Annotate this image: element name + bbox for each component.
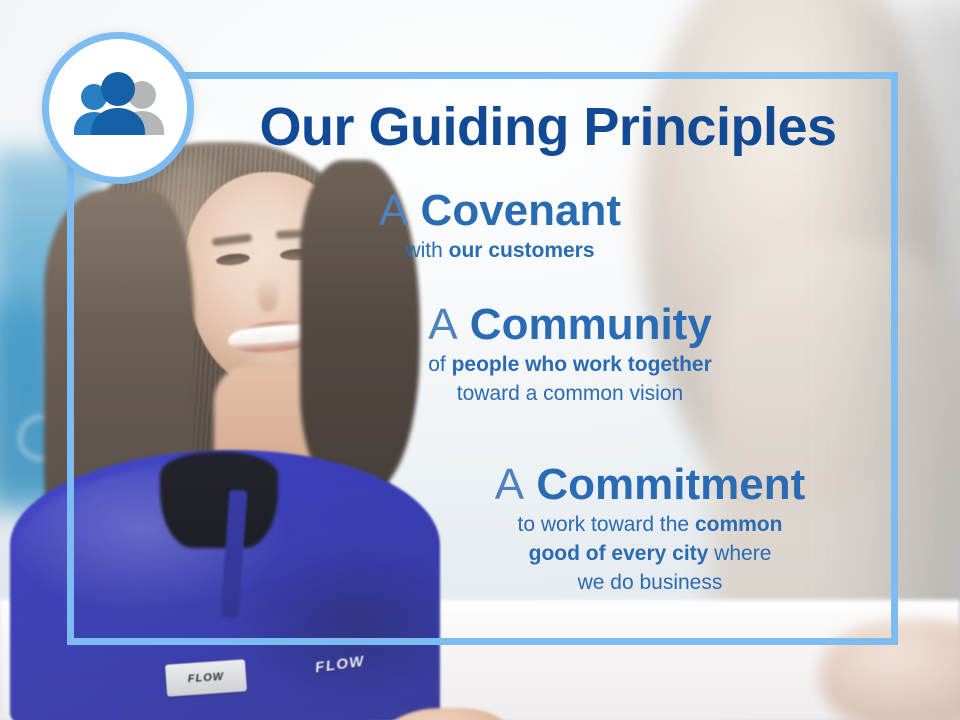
page-title: Our Guiding Principles (218, 98, 878, 156)
principle-community-article: A (428, 300, 457, 349)
principle-commitment-subtext: to work toward the commongood of every c… (430, 510, 870, 597)
principle-covenant-heading: A Covenant (300, 186, 700, 236)
principle-community-title: Community (470, 300, 712, 349)
principle-covenant-title: Covenant (421, 186, 621, 235)
subtext-line: we do business (430, 568, 870, 597)
subtext-line: to work toward the common (430, 510, 870, 539)
principle-community: A Community of people who work togethert… (360, 300, 780, 408)
subtext-line: good of every city where (430, 539, 870, 568)
poster-content: Our Guiding Principles A Covenant with o… (0, 0, 960, 720)
subtext-line: toward a common vision (360, 379, 780, 408)
subtext-run: of (428, 353, 451, 376)
principle-community-subtext: of people who work togethertoward a comm… (360, 350, 780, 408)
subtext-run: our customers (449, 239, 595, 262)
principle-covenant-article: A (379, 186, 408, 235)
principle-commitment-title: Commitment (536, 460, 805, 509)
subtext-run: toward a common vision (457, 382, 683, 405)
principle-covenant-subtext: with our customers (300, 236, 700, 265)
principle-commitment: A Commitment to work toward the commongo… (430, 460, 870, 597)
principle-commitment-heading: A Commitment (430, 460, 870, 510)
subtext-line: of people who work together (360, 350, 780, 379)
subtext-run: common (695, 513, 783, 536)
principle-covenant: A Covenant with our customers (300, 186, 700, 265)
subtext-run: people who work together (452, 353, 712, 376)
subtext-run: with (405, 239, 448, 262)
guiding-principles-poster: FLOW FLOW (0, 0, 960, 720)
principle-commitment-article: A (495, 460, 524, 509)
subtext-run: where (708, 542, 771, 565)
principle-community-heading: A Community (360, 300, 780, 350)
subtext-run: we do business (578, 571, 723, 594)
subtext-run: good of every city (529, 542, 709, 565)
subtext-run: to work toward the (518, 513, 695, 536)
subtext-line: with our customers (300, 236, 700, 265)
